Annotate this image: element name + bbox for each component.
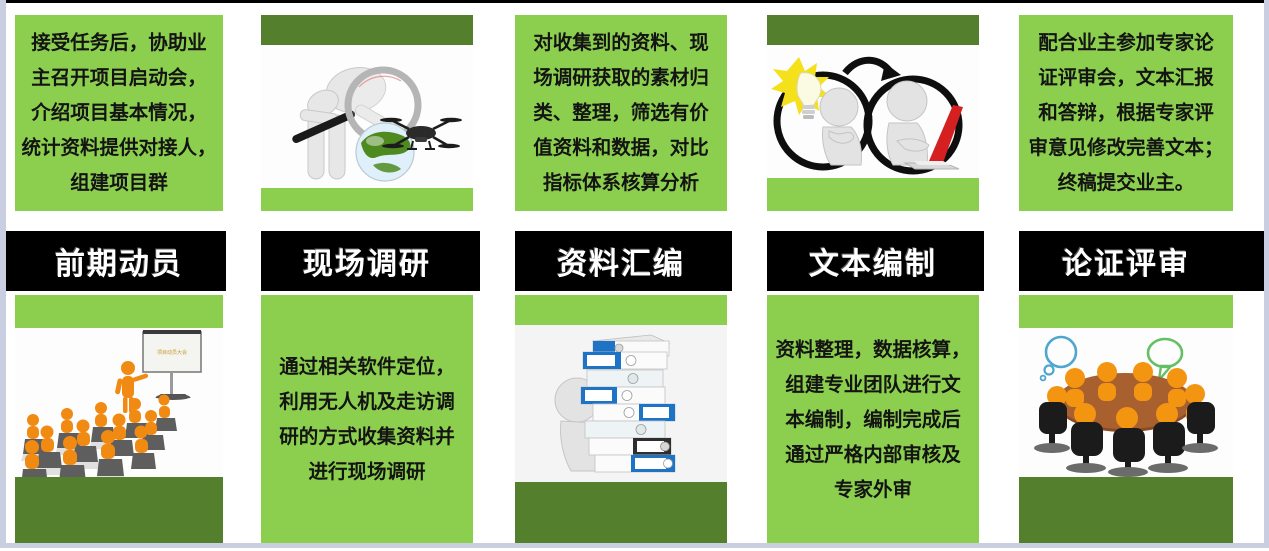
- stage-1-bottom-image-card: 项目动员大会: [15, 295, 223, 545]
- card-bottom-band: [515, 482, 727, 545]
- stage-1-top-text: 接受任务后，协助业 主召开项目启动会， 介绍项目基本情况， 统计资料提供对接人，…: [15, 15, 223, 211]
- stage-3-top-text-card: 对收集到的资料、现 场调研获取的素材归 类、整理，筛选有价 值资料和数据，对比 …: [515, 15, 727, 211]
- card-bottom-band: [1019, 477, 1233, 545]
- training-audience-illustration: 项目动员大会: [15, 328, 223, 477]
- bottom-edge-strip: [0, 543, 1269, 548]
- card-bottom-band: [767, 178, 979, 211]
- stage-5-top-text-card: 配合业主参加专家论 证评审会，文本汇报 和答辩，根据专家评 审意见修改完善文本；…: [1019, 15, 1233, 211]
- card-top-band: [15, 295, 223, 328]
- idea-lightbulb-to-laptop-illustration-svg: [767, 45, 979, 178]
- text-line: 介绍项目基本情况，: [31, 96, 207, 131]
- stage-4-bottom-text-card: 资料整理，数据核算， 组建专业团队进行文 本编制，编制完成后 通过严格内部审核及…: [767, 295, 979, 545]
- text-line: 指标体系核算分析: [543, 166, 699, 201]
- stage-2-bottom-text-card: 通过相关软件定位， 利用无人机及走访调 研的方式收集资料并 进行现场调研: [261, 295, 473, 545]
- text-line: 组建项目群: [70, 166, 168, 201]
- banner-gap: [732, 231, 767, 291]
- text-line: 值资料和数据，对比: [533, 131, 709, 166]
- round-table-meeting-illustration: [1019, 328, 1233, 477]
- card-top-band: [515, 295, 727, 325]
- text-line: 接受任务后，协助业: [31, 26, 207, 61]
- stage-1-top-text-card: 接受任务后，协助业 主召开项目启动会， 介绍项目基本情况， 统计资料提供对接人，…: [15, 15, 223, 211]
- text-line: 组建专业团队进行文: [785, 368, 961, 403]
- stage-2-top-image-card: [261, 15, 473, 211]
- text-line: 证评审会，文本汇报: [1038, 61, 1214, 96]
- svg-text:项目动员大会: 项目动员大会: [157, 349, 187, 356]
- text-line: 研的方式收集资料并: [279, 420, 455, 455]
- person-carrying-binders-illustration: [515, 325, 727, 482]
- text-line: 统计资料提供对接人，: [21, 131, 216, 166]
- stage-title-1[interactable]: 前期动员: [15, 231, 223, 291]
- text-line: 配合业主参加专家论: [1038, 26, 1214, 61]
- training-audience-illustration-svg: 项目动员大会: [15, 328, 223, 477]
- card-top-band: [261, 15, 473, 45]
- stage-title-2[interactable]: 现场调研: [261, 231, 473, 291]
- card-top-band: [767, 15, 979, 45]
- stage-4-bottom-text: 资料整理，数据核算， 组建专业团队进行文 本编制，编制完成后 通过严格内部审核及…: [767, 295, 979, 545]
- round-table-meeting-illustration-svg: [1019, 328, 1233, 477]
- text-line: 专家外审: [834, 473, 912, 508]
- stage-4-top-image-card: [767, 15, 979, 211]
- text-line: 通过相关软件定位，: [279, 350, 455, 385]
- banner-gap: [480, 231, 515, 291]
- card-top-band: [1019, 295, 1233, 328]
- text-line: 类、整理，筛选有价: [533, 96, 709, 131]
- right-edge-strip: [1264, 0, 1269, 548]
- card-bottom-band: [15, 477, 223, 545]
- text-line: 对收集到的资料、现: [533, 26, 709, 61]
- text-line: 场调研获取的素材归: [533, 61, 709, 96]
- stage-title-4[interactable]: 文本编制: [767, 231, 979, 291]
- text-line: 主召开项目启动会，: [31, 61, 207, 96]
- text-line: 审意见修改完善文本；: [1028, 131, 1223, 166]
- magnifier-globe-drone-illustration-svg: [261, 45, 473, 188]
- text-line: 和答辩，根据专家评: [1038, 96, 1214, 131]
- banner-gap: [984, 231, 1019, 291]
- banner-gap: [226, 231, 261, 291]
- person-carrying-binders-illustration-svg: [515, 325, 727, 482]
- text-line: 利用无人机及走访调: [279, 385, 455, 420]
- magnifier-globe-drone-illustration: [261, 45, 473, 188]
- text-line: 进行现场调研: [308, 455, 425, 490]
- diagram-frame: 接受任务后，协助业 主召开项目启动会， 介绍项目基本情况， 统计资料提供对接人，…: [0, 0, 1269, 548]
- text-line: 本编制，编制完成后: [785, 403, 961, 438]
- stage-title-5[interactable]: 论证评审: [1019, 231, 1233, 291]
- stage-3-top-text: 对收集到的资料、现 场调研获取的素材归 类、整理，筛选有价 值资料和数据，对比 …: [515, 15, 727, 211]
- stage-2-bottom-text: 通过相关软件定位， 利用无人机及走访调 研的方式收集资料并 进行现场调研: [261, 295, 473, 545]
- stage-title-3[interactable]: 资料汇编: [515, 231, 727, 291]
- text-line: 终稿提交业主。: [1058, 166, 1195, 201]
- text-line: 通过严格内部审核及: [785, 438, 961, 473]
- left-edge-strip: [0, 0, 6, 548]
- card-bottom-band: [261, 188, 473, 211]
- stage-3-bottom-image-card: [515, 295, 727, 545]
- stage-5-bottom-image-card: [1019, 295, 1233, 545]
- text-line: 资料整理，数据核算，: [775, 333, 970, 368]
- idea-lightbulb-to-laptop-illustration: [767, 45, 979, 178]
- stage-5-top-text: 配合业主参加专家论 证评审会，文本汇报 和答辩，根据专家评 审意见修改完善文本；…: [1019, 15, 1233, 211]
